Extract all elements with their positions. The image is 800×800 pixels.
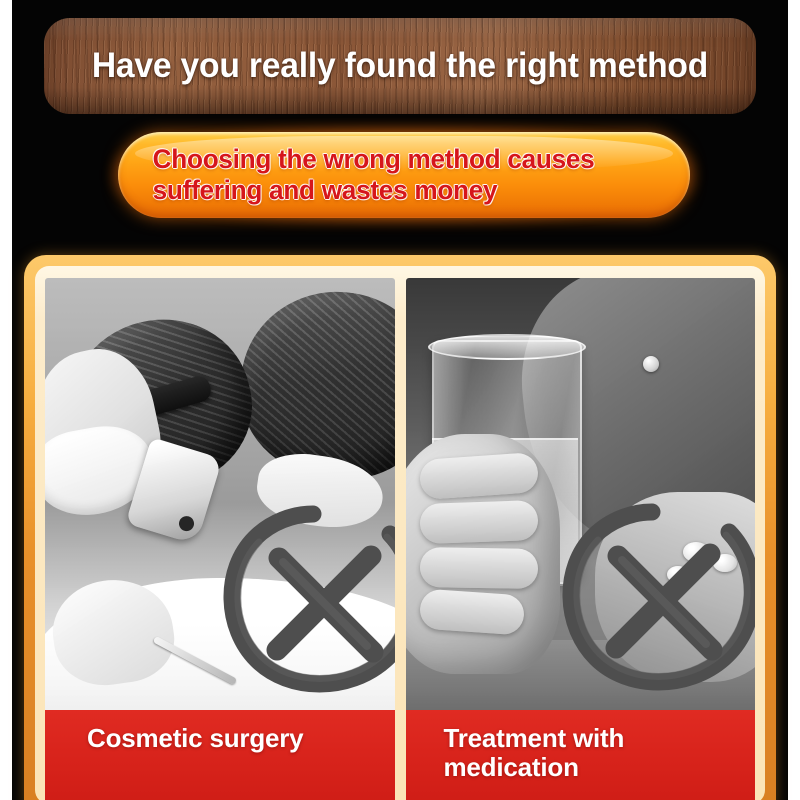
subheadline-pill: Choosing the wrong method causes sufferi… (118, 132, 690, 218)
pill-icon (667, 566, 689, 583)
finger (418, 588, 525, 635)
caption-line-1: Cosmetic surgery (87, 724, 385, 753)
comparison-panel-medication: Treatment with medication (406, 278, 756, 800)
panel-caption-surgery: Cosmetic surgery (45, 710, 395, 800)
finger (418, 452, 539, 500)
comparison-card: Cosmetic surgery (24, 255, 776, 800)
caption-line-2: medication (444, 753, 746, 782)
comparison-panel-surgery: Cosmetic surgery (45, 278, 395, 800)
finger (419, 500, 538, 544)
glass-rim (428, 334, 586, 360)
promotional-poster: Have you really found the right method C… (0, 0, 800, 800)
medication-photo (406, 278, 756, 710)
pill-icon (713, 554, 737, 572)
subheadline-line-1: Choosing the wrong method causes (153, 144, 595, 175)
caption-line-1: Treatment with (444, 724, 746, 753)
finger (419, 547, 538, 589)
headline-text: Have you really found the right method (92, 46, 708, 86)
pill-icon (683, 542, 709, 562)
headline-banner: Have you really found the right method (44, 18, 756, 114)
surgery-photo (45, 278, 395, 710)
shirt-button (643, 356, 659, 372)
subheadline-line-2: suffering and wastes money (153, 175, 595, 206)
subheadline-text-block: Choosing the wrong method causes sufferi… (125, 144, 609, 207)
right-hand (595, 492, 755, 682)
panel-caption-medication: Treatment with medication (406, 710, 756, 800)
subheadline-banner: Choosing the wrong method causes sufferi… (118, 132, 690, 218)
comparison-card-inner: Cosmetic surgery (35, 266, 765, 800)
